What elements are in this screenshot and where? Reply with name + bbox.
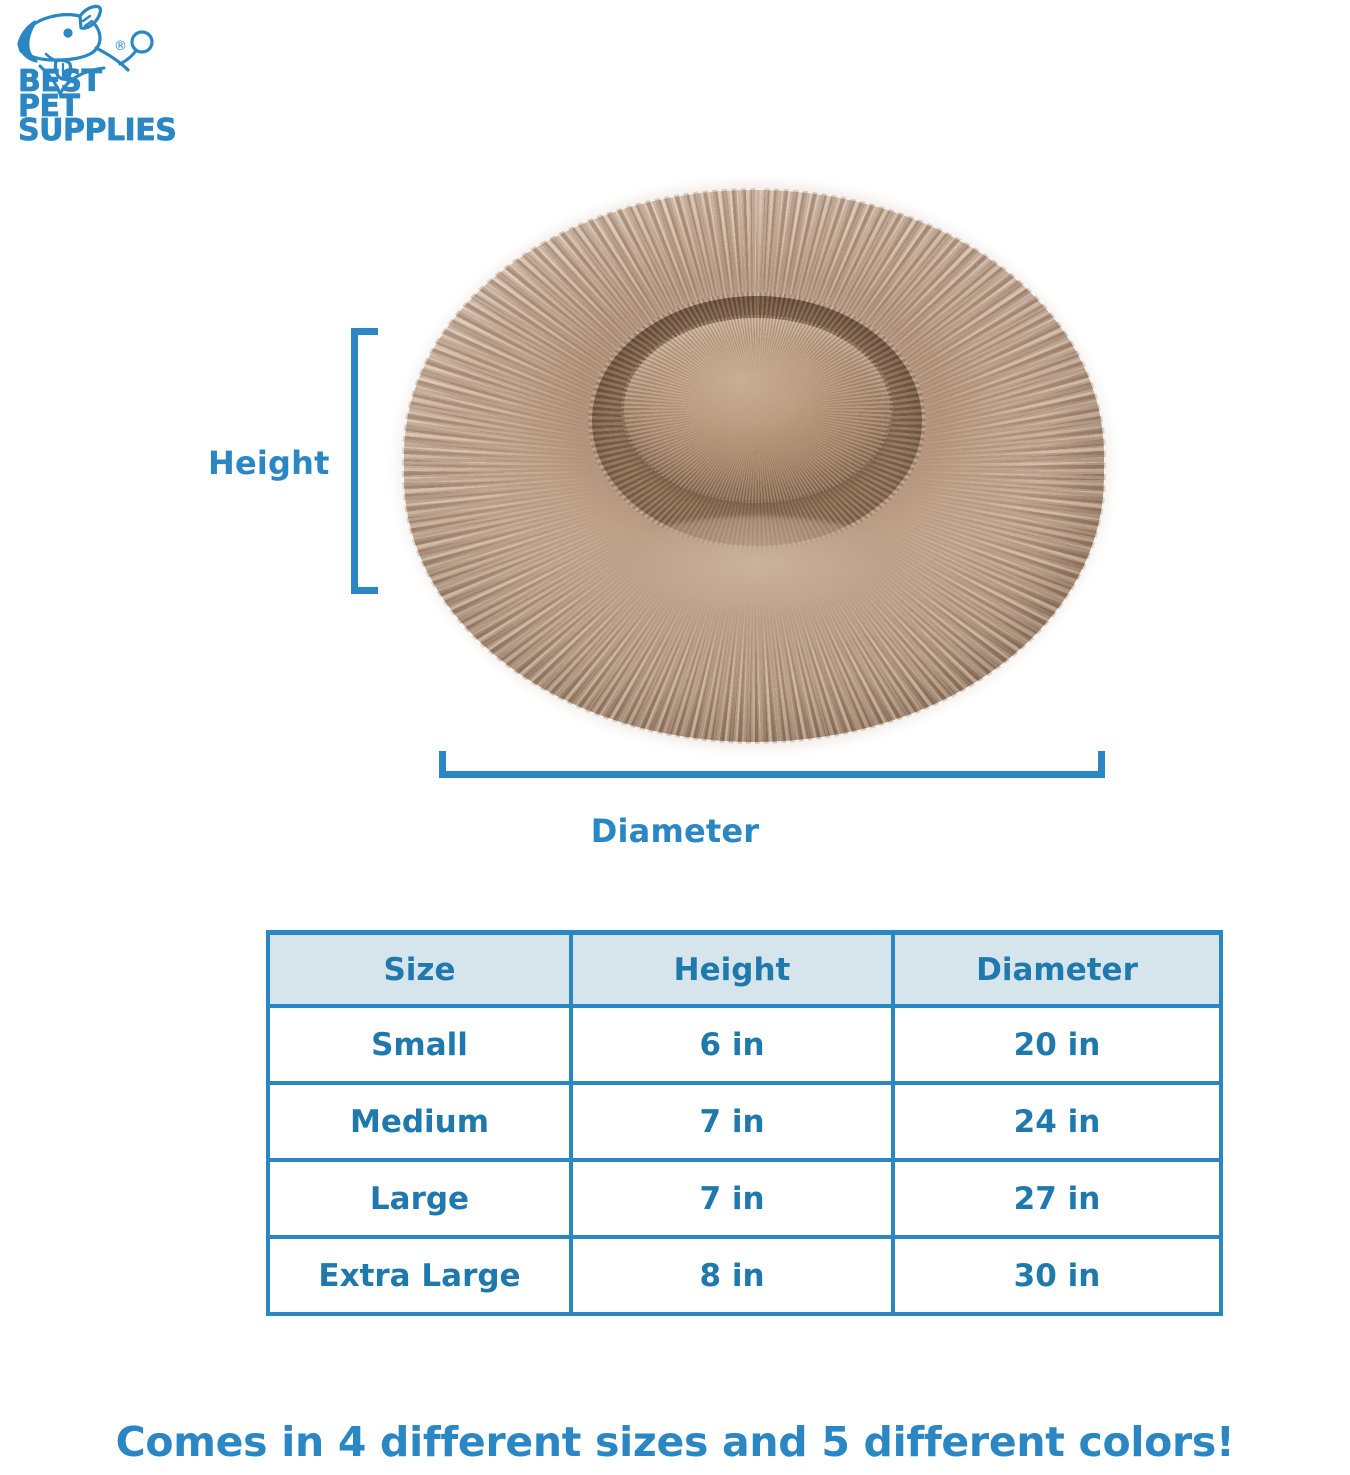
cell-height: 7 in bbox=[571, 1160, 893, 1237]
table-row: Extra Large 8 in 30 in bbox=[268, 1237, 1221, 1314]
brand-logo: ® BEST PET SUPPLIES bbox=[8, 4, 168, 130]
diameter-bracket-right-tick bbox=[1098, 751, 1105, 778]
cell-diameter: 20 in bbox=[893, 1006, 1221, 1083]
cell-height: 6 in bbox=[571, 1006, 893, 1083]
bed-center-cushion bbox=[624, 318, 890, 500]
diameter-measurement-bracket bbox=[439, 750, 1105, 778]
brand-name-line-2: SUPPLIES bbox=[18, 119, 168, 144]
registered-trademark-symbol: ® bbox=[114, 39, 127, 54]
cell-height: 7 in bbox=[571, 1083, 893, 1160]
footer-tagline: Comes in 4 different sizes and 5 differe… bbox=[0, 1418, 1350, 1466]
cell-size: Large bbox=[268, 1160, 571, 1237]
cell-diameter: 27 in bbox=[893, 1160, 1221, 1237]
table-row: Small 6 in 20 in bbox=[268, 1006, 1221, 1083]
infographic-page: ® BEST PET SUPPLIES Height Di bbox=[0, 0, 1350, 1475]
diameter-dimension-label: Diameter bbox=[591, 812, 760, 850]
height-dimension-label: Height bbox=[208, 444, 330, 482]
height-bracket-bottom-tick bbox=[351, 587, 378, 594]
table-row: Large 7 in 27 in bbox=[268, 1160, 1221, 1237]
table-row: Medium 7 in 24 in bbox=[268, 1083, 1221, 1160]
pet-bed-illustration bbox=[396, 176, 1120, 756]
column-header-height: Height bbox=[571, 933, 893, 1007]
size-chart-table: Size Height Diameter Small 6 in 20 in Me… bbox=[266, 930, 1223, 1316]
brand-wordmark: BEST PET SUPPLIES bbox=[18, 70, 168, 144]
cell-size: Medium bbox=[268, 1083, 571, 1160]
cell-diameter: 30 in bbox=[893, 1237, 1221, 1314]
diameter-bracket-stem bbox=[439, 771, 1105, 778]
brand-name-line-1: BEST PET bbox=[18, 70, 168, 119]
table-header-row: Size Height Diameter bbox=[268, 933, 1221, 1007]
pet-bed-photo bbox=[396, 176, 1120, 756]
cell-height: 8 in bbox=[571, 1237, 893, 1314]
cell-size: Extra Large bbox=[268, 1237, 571, 1314]
cell-diameter: 24 in bbox=[893, 1083, 1221, 1160]
diameter-dimension-label-wrap: Diameter bbox=[0, 812, 1350, 850]
column-header-size: Size bbox=[268, 933, 571, 1007]
height-bracket-stem bbox=[351, 328, 358, 594]
column-header-diameter: Diameter bbox=[893, 933, 1221, 1007]
height-measurement-bracket bbox=[351, 328, 379, 594]
cell-size: Small bbox=[268, 1006, 571, 1083]
